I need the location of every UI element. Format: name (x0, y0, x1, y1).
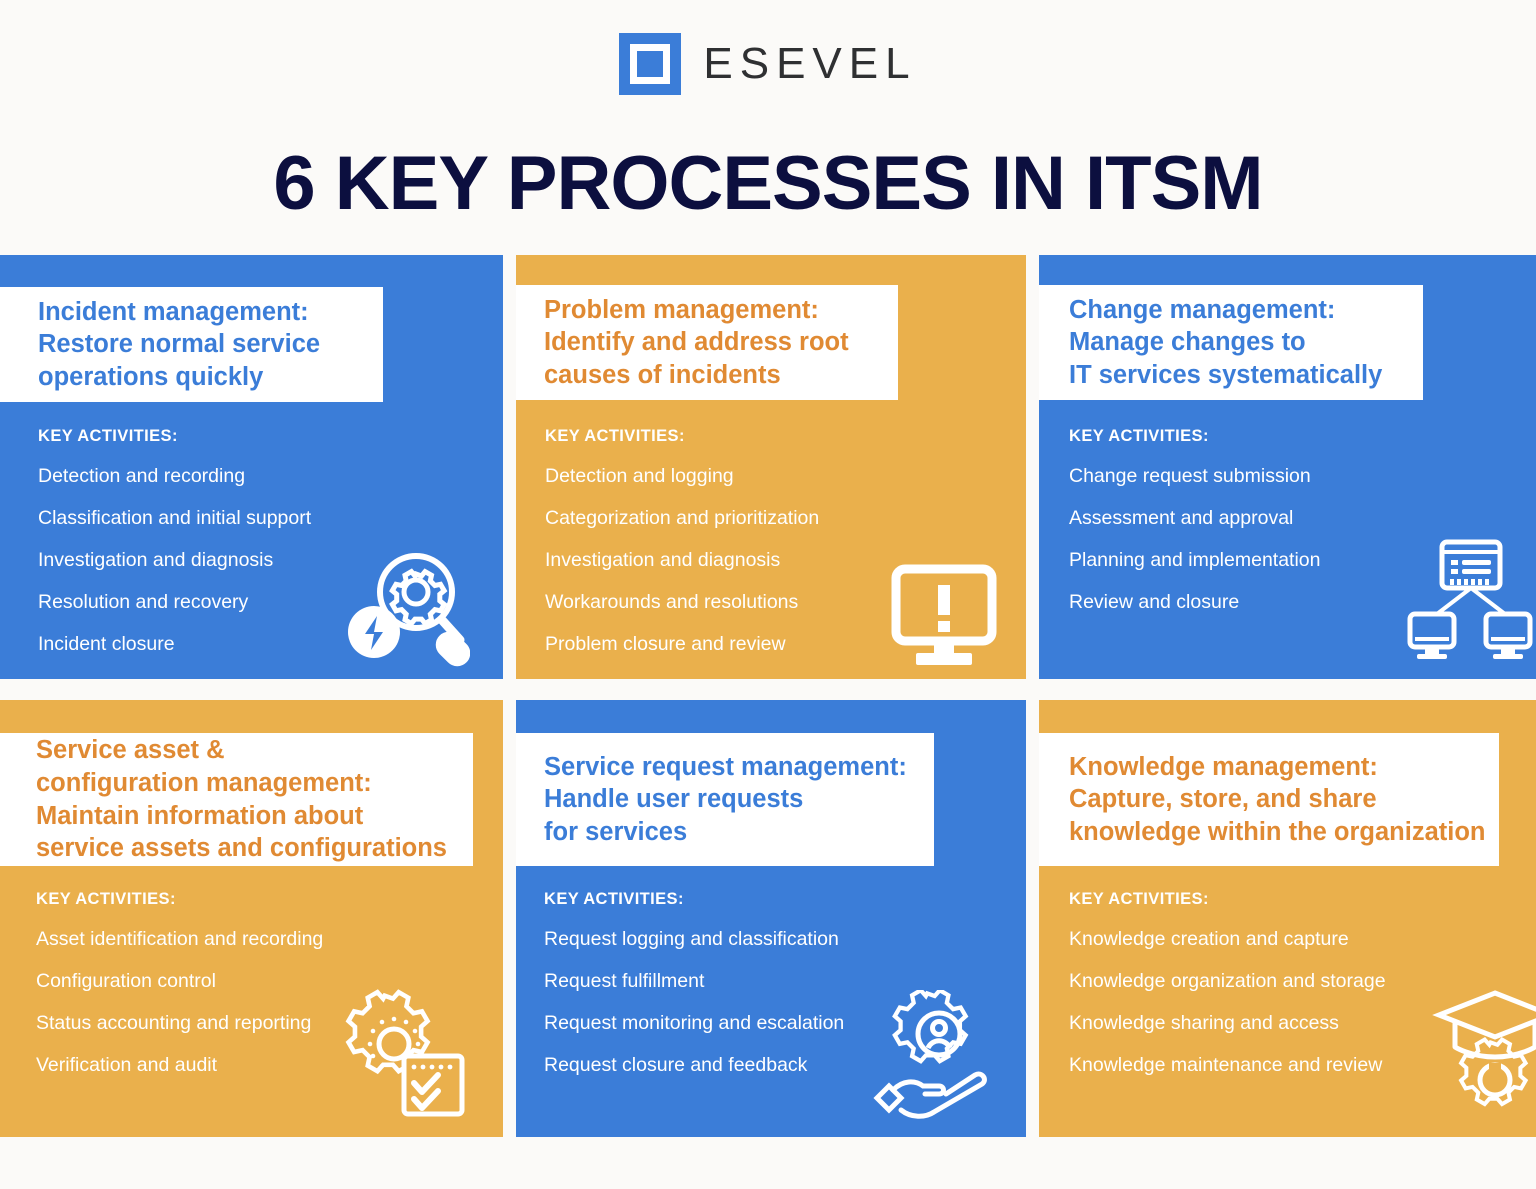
card-header: Service request management: Handle user … (516, 733, 934, 866)
list-item: Asset identification and recording (36, 930, 323, 950)
graduation-gear-icon (1429, 985, 1536, 1117)
magnifier-gear-icon (338, 540, 470, 672)
list-item: Status accounting and reporting (36, 1014, 323, 1034)
list-item: Change request submission (1069, 467, 1321, 487)
card-title: Problem management: Identify and address… (544, 294, 849, 392)
list-item: Knowledge sharing and access (1069, 1014, 1386, 1034)
process-card-incident-management: Incident management: Restore normal serv… (0, 255, 503, 679)
card-header: Change management: Manage changes to IT … (1039, 285, 1423, 400)
activity-list: Detection and logging Categorization and… (545, 467, 819, 677)
activity-list: Knowledge creation and capture Knowledge… (1069, 930, 1386, 1098)
activity-list: Asset identification and recording Confi… (36, 930, 323, 1098)
list-item: Incident closure (38, 635, 311, 655)
list-item: Investigation and diagnosis (38, 551, 311, 571)
activity-list: Detection and recording Classification a… (38, 467, 311, 677)
server-network-icon (1404, 536, 1536, 668)
key-activities-label: KEY ACTIVITIES: (544, 890, 684, 909)
card-title: Knowledge management: Capture, store, an… (1069, 751, 1486, 849)
list-item: Workarounds and resolutions (545, 593, 819, 613)
list-item: Knowledge maintenance and review (1069, 1056, 1386, 1076)
list-item: Investigation and diagnosis (545, 551, 819, 571)
list-item: Request fulfillment (544, 972, 844, 992)
hand-user-gear-icon (871, 990, 1003, 1122)
list-item: Detection and recording (38, 467, 311, 487)
list-item: Knowledge organization and storage (1069, 972, 1386, 992)
monitor-alert-icon (878, 543, 1010, 675)
list-item: Categorization and prioritization (545, 509, 819, 529)
list-item: Problem closure and review (545, 635, 819, 655)
list-item: Review and closure (1069, 593, 1321, 613)
list-item: Knowledge creation and capture (1069, 930, 1386, 950)
infographic-page: ESEVEL 6 KEY PROCESSES IN ITSM Incident … (0, 0, 1536, 1189)
process-card-service-request-management: Service request management: Handle user … (516, 700, 1026, 1137)
list-item: Request closure and feedback (544, 1056, 844, 1076)
card-title: Service request management: Handle user … (544, 751, 907, 849)
list-item: Detection and logging (545, 467, 819, 487)
list-item: Configuration control (36, 972, 323, 992)
key-activities-label: KEY ACTIVITIES: (38, 427, 178, 446)
list-item: Classification and initial support (38, 509, 311, 529)
list-item: Request monitoring and escalation (544, 1014, 844, 1034)
list-item: Verification and audit (36, 1056, 323, 1076)
list-item: Planning and implementation (1069, 551, 1321, 571)
activity-list: Change request submission Assessment and… (1069, 467, 1321, 635)
list-item: Assessment and approval (1069, 509, 1321, 529)
process-card-change-management: Change management: Manage changes to IT … (1039, 255, 1536, 679)
card-header: Service asset & configuration management… (0, 733, 473, 866)
card-header: Knowledge management: Capture, store, an… (1039, 733, 1499, 866)
page-title: 6 KEY PROCESSES IN ITSM (0, 118, 1536, 222)
key-activities-label: KEY ACTIVITIES: (1069, 890, 1209, 909)
gear-checklist-icon (338, 988, 470, 1120)
card-header: Incident management: Restore normal serv… (0, 287, 383, 402)
card-title: Incident management: Restore normal serv… (38, 296, 320, 394)
brand-header: ESEVEL (0, 0, 1536, 118)
brand-name: ESEVEL (703, 39, 916, 89)
activity-list: Request logging and classification Reque… (544, 930, 844, 1098)
list-item: Resolution and recovery (38, 593, 311, 613)
card-title: Service asset & configuration management… (36, 734, 447, 865)
esevel-square-logo-icon (619, 33, 681, 95)
card-header: Problem management: Identify and address… (516, 285, 898, 400)
card-title: Change management: Manage changes to IT … (1069, 294, 1382, 392)
key-activities-label: KEY ACTIVITIES: (1069, 427, 1209, 446)
process-card-knowledge-management: Knowledge management: Capture, store, an… (1039, 700, 1536, 1137)
process-card-grid: Incident management: Restore normal serv… (0, 255, 1536, 1137)
key-activities-label: KEY ACTIVITIES: (545, 427, 685, 446)
list-item: Request logging and classification (544, 930, 844, 950)
process-card-problem-management: Problem management: Identify and address… (516, 255, 1026, 679)
process-card-service-asset-configuration-management: Service asset & configuration management… (0, 700, 503, 1137)
key-activities-label: KEY ACTIVITIES: (36, 890, 176, 909)
